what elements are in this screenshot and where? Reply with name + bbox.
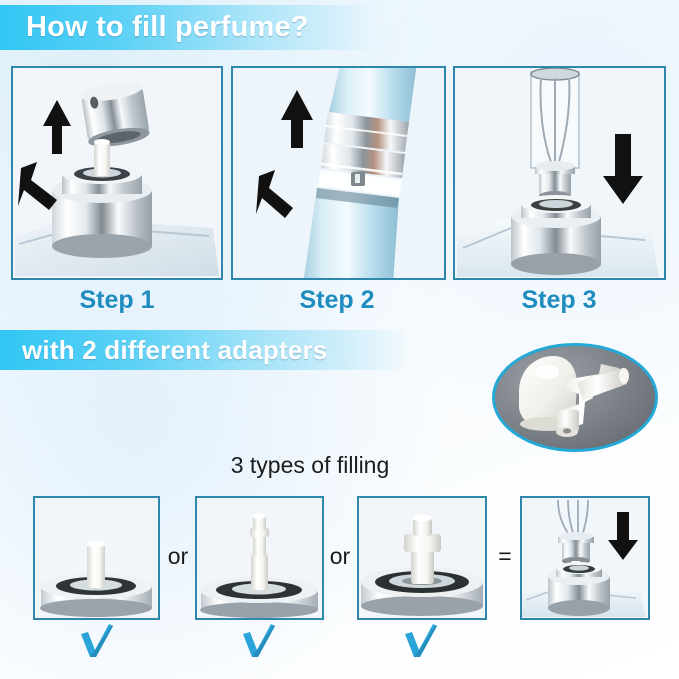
filling-type-3-photo bbox=[357, 496, 487, 620]
step-1-label: Step 1 bbox=[11, 286, 223, 315]
step-3-label: Step 3 bbox=[453, 286, 665, 315]
connector-or-1: or bbox=[160, 543, 196, 570]
filling-type-1-photo bbox=[33, 496, 160, 620]
step-3-photo bbox=[453, 66, 666, 280]
connector-or-2: or bbox=[322, 543, 358, 570]
step-2-illustration bbox=[233, 68, 444, 278]
step-1-illustration bbox=[13, 68, 221, 278]
filling-result-photo bbox=[520, 496, 650, 620]
adapters-banner: with 2 different adapters bbox=[0, 330, 405, 370]
step-1-photo bbox=[11, 66, 223, 280]
filling-type-2-photo bbox=[195, 496, 324, 620]
check-icon bbox=[79, 624, 115, 658]
check-mark-type-3 bbox=[357, 624, 484, 658]
types-section-title: 3 types of filling bbox=[0, 452, 620, 479]
adapters-illustration bbox=[495, 346, 651, 445]
filling-type-2-illustration bbox=[197, 498, 322, 618]
check-mark-type-2 bbox=[195, 624, 322, 658]
check-icon bbox=[403, 624, 439, 658]
title-banner: How to fill perfume? bbox=[0, 5, 376, 50]
filling-type-3-illustration bbox=[359, 498, 485, 618]
filling-type-1-illustration bbox=[35, 498, 158, 618]
step-3-illustration bbox=[455, 68, 664, 278]
adapters-photo bbox=[492, 343, 658, 452]
check-icon bbox=[241, 624, 277, 658]
adapters-banner-label: with 2 different adapters bbox=[22, 335, 328, 366]
step-2-photo bbox=[231, 66, 446, 280]
filling-result-illustration bbox=[522, 498, 648, 618]
infographic-page: How to fill perfume? bbox=[0, 0, 679, 679]
connector-equals: = bbox=[487, 543, 523, 570]
page-title: How to fill perfume? bbox=[26, 11, 309, 44]
step-2-label: Step 2 bbox=[231, 286, 443, 315]
check-mark-type-1 bbox=[33, 624, 160, 658]
